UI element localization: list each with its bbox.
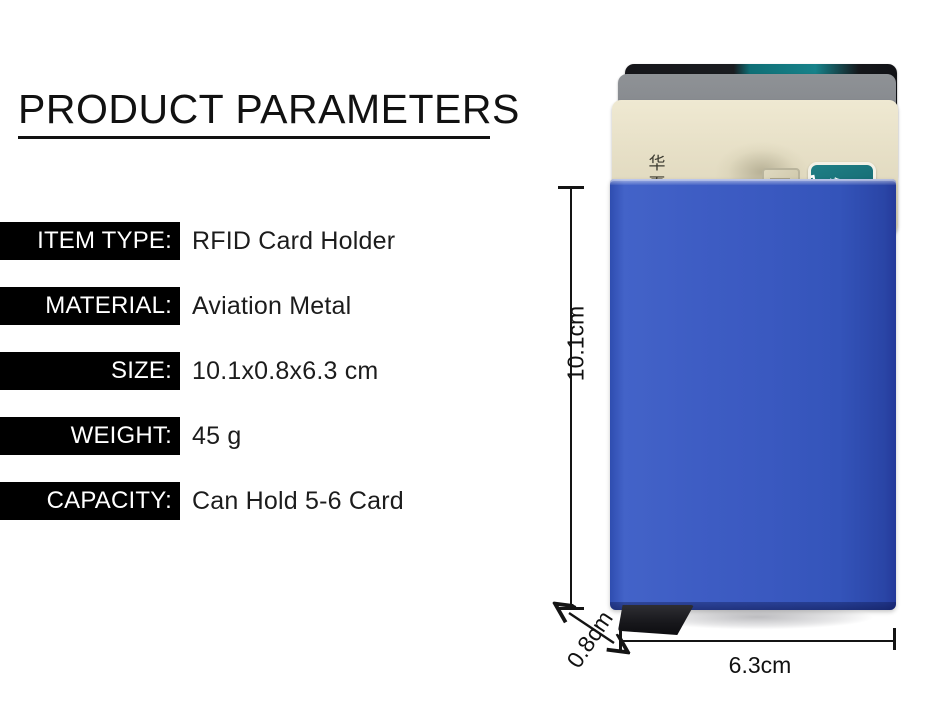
width-dimension-label: 6.3cm [660,652,860,679]
spec-label-material: MATERIAL: [0,287,180,325]
card-case-body [610,179,896,610]
case-top-rim [610,179,896,185]
spec-row-item-type: ITEM TYPE: RFID Card Holder [0,222,500,287]
spec-list: ITEM TYPE: RFID Card Holder MATERIAL: Av… [0,222,500,547]
spec-row-material: MATERIAL: Aviation Metal [0,287,500,352]
title-underline-rule [18,136,490,139]
height-dimension-label: 10.1cm [563,284,590,404]
width-dimension-tick-right [893,628,896,650]
spec-value-item-type: RFID Card Holder [192,222,395,260]
spec-label-capacity: CAPACITY: [0,482,180,520]
spec-row-size: SIZE: 10.1x0.8x6.3 cm [0,352,500,417]
spec-value-size: 10.1x0.8x6.3 cm [192,352,378,390]
height-dimension-tick-top [558,186,584,189]
spec-value-capacity: Can Hold 5-6 Card [192,482,404,520]
spec-value-material: Aviation Metal [192,287,351,325]
width-dimension-line [620,640,896,642]
spec-row-weight: WEIGHT: 45 g [0,417,500,482]
spec-row-capacity: CAPACITY: Can Hold 5-6 Card [0,482,500,547]
page-title: PRODUCT PARAMETERS [18,86,520,133]
spec-label-weight: WEIGHT: [0,417,180,455]
spec-value-weight: 45 g [192,417,241,455]
spec-label-item-type: ITEM TYPE: [0,222,180,260]
spec-label-size: SIZE: [0,352,180,390]
